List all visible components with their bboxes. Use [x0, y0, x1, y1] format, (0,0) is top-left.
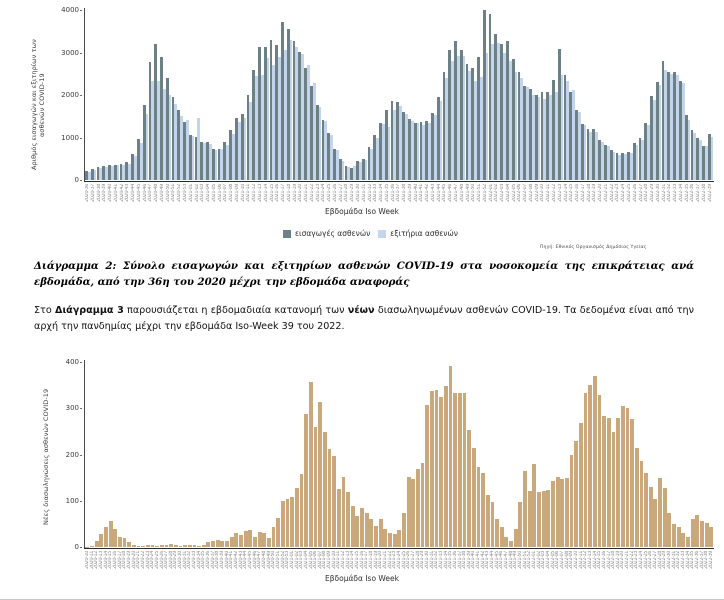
bar: [160, 545, 164, 547]
chart2-x-axis-line: [84, 548, 714, 549]
x-tick: 2022-34: [679, 184, 685, 206]
bar: [514, 529, 518, 547]
x-tick: 2022-07: [560, 551, 565, 573]
x-tick: 2021-39: [408, 184, 414, 206]
x-tick: 2020-36: [85, 184, 91, 206]
bar: [416, 469, 420, 547]
bar: [369, 519, 373, 547]
bar: [206, 542, 210, 547]
x-tick: 2020-45: [137, 184, 143, 206]
bar: [127, 542, 131, 547]
bar: [141, 546, 145, 547]
x-tick: 2020-39: [220, 551, 225, 573]
bar: [635, 448, 639, 547]
bar: [463, 393, 467, 547]
bar: [504, 537, 508, 547]
bar: [537, 492, 541, 548]
bar: [686, 537, 690, 547]
bar: [95, 541, 99, 547]
y-tick-100: 100: [66, 497, 79, 505]
bar: [165, 545, 169, 547]
x-tick: 2020-13: [99, 551, 104, 573]
bar: [318, 402, 322, 547]
x-tick: 2021-43: [431, 184, 437, 206]
bar: [467, 430, 471, 547]
bar: [607, 418, 611, 548]
bar: [491, 502, 495, 547]
x-tick: 2022-21: [604, 184, 610, 206]
bar: [132, 545, 136, 547]
x-tick: 2022-39: [708, 184, 713, 206]
y-tick-200: 200: [66, 451, 79, 459]
x-tick: 2022-39: [709, 551, 713, 573]
x-tick: 2020-10: [85, 551, 90, 573]
x-tick: 2022-13: [588, 551, 593, 573]
x-tick: 2021-22: [310, 184, 316, 206]
x-tick: 2021-36: [453, 551, 458, 573]
bar: [309, 382, 313, 547]
x-tick: 2021-30: [425, 551, 430, 573]
bar: [411, 479, 415, 547]
x-tick: 2020-45: [248, 551, 253, 573]
bar-group: [708, 10, 714, 180]
x-tick: 2022-16: [602, 551, 607, 573]
legend-label: εισαγωγές ασθενών: [295, 229, 370, 238]
y-tick-0: 0: [75, 176, 79, 184]
chart1-legend: εισαγωγές ασθενώνεξιτήρια ασθενών: [283, 229, 458, 238]
x-tick: 2021-01: [189, 184, 195, 206]
x-tick: 2021-47: [454, 184, 460, 206]
bar: [598, 395, 602, 547]
bar: [477, 467, 481, 547]
bar: [281, 501, 285, 547]
x-tick: 2022-12: [552, 184, 558, 206]
bar: [681, 533, 685, 547]
bar: [202, 545, 206, 547]
bar: [151, 545, 155, 547]
y-tick-0: 0: [75, 543, 79, 551]
bar: [588, 385, 592, 547]
bar: [565, 478, 569, 547]
bar: [328, 449, 332, 547]
x-tick: 2020-42: [234, 551, 239, 573]
legend-swatch-icon: [283, 230, 291, 238]
x-tick: 2022-10: [574, 551, 579, 573]
bar: [653, 499, 657, 547]
bar: [667, 513, 671, 547]
bar: [425, 405, 429, 547]
chart2-y-tick-labels: 0100200300400: [48, 362, 82, 547]
bar: [709, 527, 713, 547]
bar: [137, 546, 141, 547]
bar: [234, 533, 238, 547]
x-tick: 2020-16: [113, 551, 118, 573]
paragraph-bold-diagram3: Διάγραμμα 3: [55, 305, 124, 316]
x-tick: 2022-36: [695, 551, 700, 573]
bar: [244, 531, 248, 547]
bar: [216, 540, 220, 547]
paragraph-bold-neon: νέων: [348, 305, 375, 316]
bar: [560, 479, 564, 547]
bar: [621, 406, 625, 547]
bar: [104, 527, 108, 547]
bar: [444, 386, 448, 547]
x-tick: 2021-18: [369, 551, 374, 573]
bar: [374, 526, 378, 547]
bar: [351, 506, 355, 547]
bar: [616, 418, 620, 547]
bar: [556, 477, 560, 547]
x-tick: 2021-01: [290, 551, 295, 573]
bar: [612, 432, 616, 547]
x-tick: 2022-01: [532, 551, 537, 573]
figure-hospital-admissions-discharges: Αριθμός εισαγωγών και εξιτηρίων των ασθε…: [0, 0, 724, 252]
x-tick: 2021-50: [518, 551, 523, 573]
x-tick: 2022-04: [546, 551, 551, 573]
bar: [258, 532, 262, 547]
bar: [532, 464, 536, 547]
x-tick: 2022-33: [681, 551, 686, 573]
bar: [439, 397, 443, 547]
bar: [286, 499, 290, 547]
bar: [649, 487, 653, 547]
bar: [267, 538, 271, 547]
bar: [388, 533, 392, 547]
bar: [663, 488, 667, 547]
bar: [523, 471, 527, 547]
bar: [402, 513, 406, 547]
bar: [500, 527, 504, 547]
x-tick: 2021-21: [304, 184, 310, 206]
bar: [593, 376, 597, 547]
bar: [253, 537, 257, 547]
chart2-x-axis-title: Εβδομάδα Iso Week: [0, 574, 724, 583]
bar: [276, 518, 280, 547]
chart1-y-tick-labels: 01000200030004000: [48, 10, 82, 180]
bar: [481, 473, 485, 547]
x-tick: 2020-41: [114, 184, 120, 206]
bar: [379, 519, 383, 547]
bar: [711, 137, 714, 180]
bar: [342, 477, 346, 547]
bar: [658, 478, 662, 547]
bar: [174, 545, 178, 547]
bar: [677, 527, 681, 547]
bar: [220, 541, 224, 547]
chart2-x-tick-labels: 2020-102020-112020-122020-132020-142020-…: [85, 551, 713, 573]
x-tick: 2022-30: [667, 551, 672, 573]
x-tick: 2021-51: [477, 184, 483, 206]
bar: [239, 535, 243, 547]
bar: [248, 530, 252, 547]
bar: [290, 497, 294, 547]
chart1-x-axis-title: Εβδομάδα Iso Week: [0, 207, 724, 216]
bar: [118, 537, 122, 547]
bar: [672, 524, 676, 547]
x-tick: 2021-09: [235, 184, 241, 206]
x-tick: 2021-27: [411, 551, 416, 573]
x-tick: 2021-52: [483, 184, 489, 206]
x-tick: 2021-17: [281, 184, 287, 206]
bar: [109, 521, 113, 547]
bar: [197, 546, 201, 547]
bar-group: [709, 362, 714, 547]
bar: [155, 546, 159, 547]
bar: [705, 523, 709, 547]
paragraph-part-1: Στο: [34, 305, 55, 316]
bar: [546, 490, 550, 547]
x-tick: 2020-22: [141, 551, 146, 573]
bar: [551, 481, 555, 547]
chart1-y-axis-title: Αριθμός εισαγωγών και εξιτηρίων των ασθε…: [30, 30, 48, 180]
bar: [323, 432, 327, 547]
y-tick-4000: 4000: [61, 6, 79, 14]
bar: [509, 541, 513, 547]
x-tick: 2022-04: [506, 184, 512, 206]
x-tick: 2020-49: [160, 184, 166, 206]
bar: [337, 489, 341, 547]
bar: [225, 541, 229, 547]
chart2-bars: [85, 362, 713, 547]
bar: [123, 538, 127, 547]
bar: [179, 546, 183, 547]
x-tick: 2022-29: [650, 184, 656, 206]
bar: [640, 461, 644, 547]
x-tick: 2022-08: [529, 184, 535, 206]
x-tick: 2021-18: [287, 184, 293, 206]
paragraph-part-2: παρουσιάζεται η εβδομαδιαία κατανομή των: [124, 305, 348, 316]
bar: [528, 491, 532, 547]
x-tick: 2020-37: [91, 184, 97, 206]
x-tick: 2021-14: [264, 184, 270, 206]
chart1-x-axis-line: [84, 181, 714, 182]
bar: [332, 456, 336, 547]
bar: [518, 502, 522, 547]
bar: [397, 530, 401, 547]
x-tick: 2021-34: [379, 184, 385, 206]
bar: [300, 474, 304, 547]
bar: [393, 534, 397, 547]
bar: [113, 529, 117, 547]
x-tick: 2020-19: [127, 551, 132, 573]
bar: [435, 390, 439, 547]
x-tick: 2021-04: [206, 184, 212, 206]
legend-item[interactable]: εξιτήρια ασθενών: [378, 229, 458, 238]
x-tick: 2021-31: [362, 184, 368, 206]
x-tick: 2022-33: [673, 184, 679, 206]
x-tick: 2021-35: [385, 184, 391, 206]
figure-new-intubations: Νέες διασωληνώσεις ασθενών COVID-19 0100…: [0, 352, 724, 600]
bar: [169, 544, 173, 547]
y-tick-400: 400: [66, 358, 79, 366]
x-tick: 2020-51: [276, 551, 281, 573]
x-tick: 2022-13: [558, 184, 564, 206]
legend-label: εξιτήρια ασθενών: [390, 229, 458, 238]
bar: [230, 537, 234, 547]
x-tick: 2021-04: [304, 551, 309, 573]
x-tick: 2022-16: [575, 184, 581, 206]
bar: [472, 448, 476, 547]
bar: [486, 495, 490, 547]
bar: [579, 423, 583, 547]
x-tick: 2020-40: [108, 184, 114, 206]
bar: [695, 515, 699, 547]
chart1-source-note: Πηγή: Εθνικός Οργανισμός Δημόσιας Υγείας: [540, 245, 646, 250]
bar: [584, 393, 588, 547]
bar: [188, 545, 192, 547]
body-paragraph: Στο Διάγραμμα 3 παρουσιάζεται η εβδομαδι…: [34, 303, 694, 335]
bar: [644, 473, 648, 547]
x-tick: 2020-53: [183, 184, 189, 206]
bar: [453, 393, 457, 547]
x-tick: 2020-25: [155, 551, 160, 573]
bar: [304, 414, 308, 547]
legend-item[interactable]: εισαγωγές ασθενών: [283, 229, 370, 238]
x-tick: 2021-48: [460, 184, 466, 206]
x-tick: 2021-26: [333, 184, 339, 206]
bar: [570, 455, 574, 548]
x-tick: 2021-30: [356, 184, 362, 206]
y-tick-2000: 2000: [61, 91, 79, 99]
legend-swatch-icon: [378, 230, 386, 238]
bar: [626, 408, 630, 547]
x-tick: 2022-38: [702, 184, 708, 206]
bar: [193, 545, 197, 547]
bar: [602, 416, 606, 547]
bar: [355, 516, 359, 547]
chart1-x-tick-labels: 2020-362020-372020-382020-392020-402020-…: [85, 184, 713, 206]
bar: [407, 477, 411, 547]
bar: [700, 521, 704, 547]
y-tick-1000: 1000: [61, 134, 79, 142]
x-tick: 2021-33: [439, 551, 444, 573]
bar: [495, 519, 499, 547]
bar: [262, 533, 266, 547]
y-tick-300: 300: [66, 404, 79, 412]
x-tick: 2022-30: [656, 184, 662, 206]
bar: [90, 546, 94, 547]
x-tick: 2021-13: [258, 184, 264, 206]
bar: [574, 441, 578, 547]
bar: [360, 508, 364, 547]
bar: [430, 391, 434, 547]
bar: [314, 427, 318, 547]
bar: [630, 419, 634, 547]
y-tick-3000: 3000: [61, 49, 79, 57]
bar: [365, 513, 369, 547]
bar: [272, 527, 276, 547]
bar: [458, 393, 462, 547]
bar: [295, 488, 299, 547]
bar: [211, 541, 215, 547]
x-tick: 2021-21: [383, 551, 388, 573]
bar: [346, 492, 350, 547]
x-tick: 2021-05: [212, 184, 218, 206]
figure-2-caption: Διάγραμμα 2: Σύνολο εισαγωγών και εξιτηρ…: [34, 258, 694, 290]
bar: [99, 534, 103, 547]
bar: [383, 529, 387, 548]
x-tick: 2021-38: [402, 184, 408, 206]
x-tick: 2020-48: [262, 551, 267, 573]
x-tick: 2022-17: [581, 184, 587, 206]
bar: [449, 366, 453, 547]
bar: [183, 545, 187, 547]
x-tick: 2021-24: [397, 551, 402, 573]
x-tick: 2022-26: [633, 184, 639, 206]
bar: [421, 463, 425, 547]
bar: [691, 519, 695, 547]
bar: [146, 545, 150, 547]
x-tick: 2022-25: [627, 184, 633, 206]
chart1-bars: [85, 10, 713, 180]
bar: [542, 491, 546, 547]
